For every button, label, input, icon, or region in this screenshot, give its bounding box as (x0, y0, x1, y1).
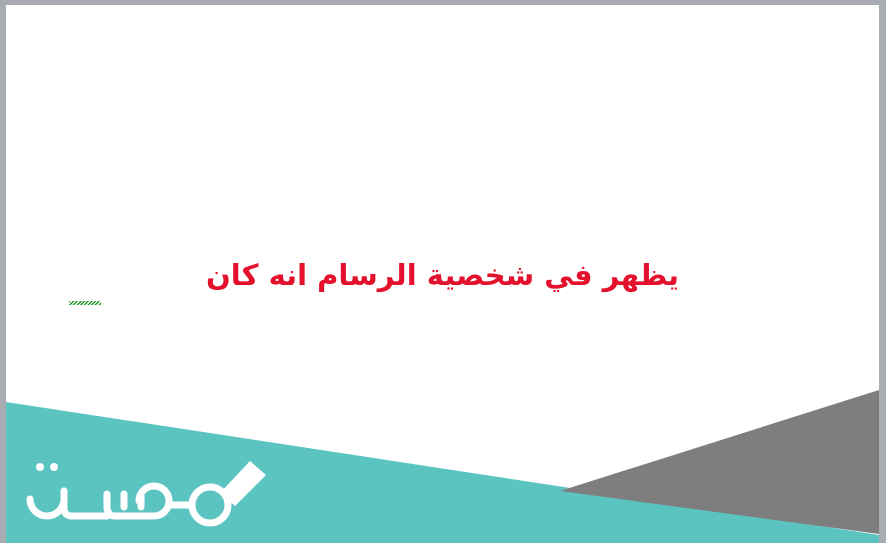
logo-glyph-ayn (64, 491, 93, 516)
slide-frame: موسوعة (0, 0, 886, 543)
logo-glyph-ta-marbuta (30, 491, 64, 516)
logo-baseline-2 (107, 507, 154, 516)
slide-border-left (0, 0, 6, 543)
logo-dot-right (50, 463, 58, 471)
brand-logo-mark (14, 453, 294, 535)
headline-text: يظهر في شخصية الرسام انه كان (206, 257, 679, 293)
logo-dot-left (36, 463, 44, 471)
slide-border-right (879, 0, 886, 543)
brand-logo[interactable]: موسوعة (14, 453, 294, 535)
spellcheck-underline-icon (69, 301, 101, 305)
headline-block: يظهر في شخصية الرسام انه كان (6, 257, 879, 293)
slide-border-top (0, 0, 886, 5)
slide-canvas: موسوعة (6, 5, 879, 543)
